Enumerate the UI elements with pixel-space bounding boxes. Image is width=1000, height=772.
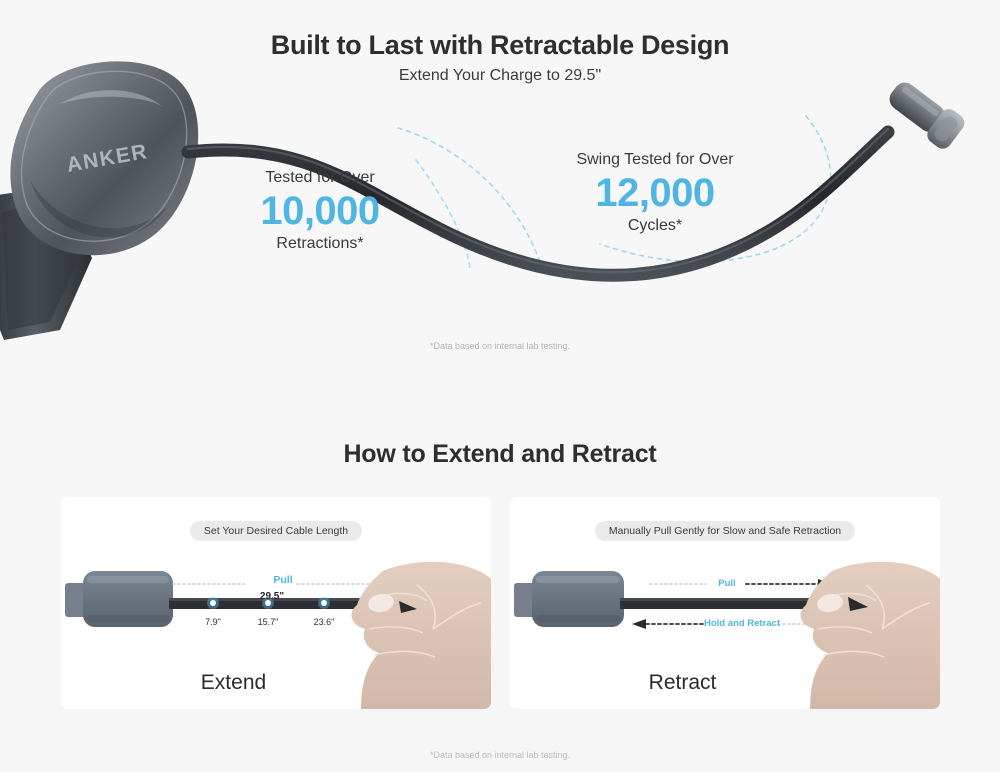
extend-marker-label-1: 7.9" (191, 617, 235, 627)
retract-flow-top-label: Pull (706, 578, 748, 589)
stat-retractions: Tested for Over 10,000 Retractions* (205, 168, 435, 254)
device-body (514, 571, 624, 627)
flow-bottom-arrow (632, 619, 646, 629)
hero-subheadline: Extend Your Charge to 29.5" (0, 67, 1000, 85)
card-extend-caption: Extend (61, 671, 491, 695)
hero-headline: Built to Last with Retractable Design (0, 30, 1000, 61)
retract-flow-bottom-label: Hold and Retract (702, 618, 782, 629)
stat-cycles-top-label: Swing Tested for Over (540, 150, 770, 170)
extend-marker-label-3: 23.6" (302, 617, 346, 627)
hero-section: ANKER Built to Last with Retractable Des… (0, 0, 1000, 390)
stat-retractions-bottom-label: Retractions* (205, 234, 435, 254)
extend-pull-label: Pull (253, 574, 313, 586)
extend-total-length-label: 29.5" (247, 591, 297, 602)
card-retract-caption: Retract (510, 671, 940, 695)
stat-retractions-value: 10,000 (205, 188, 435, 234)
page-root: ANKER Built to Last with Retractable Des… (0, 0, 1000, 772)
device-body (65, 571, 173, 627)
stat-cycles-value: 12,000 (540, 170, 770, 216)
card-extend: Set Your Desired Cable Length (61, 497, 491, 709)
stat-cycles-bottom-label: Cycles* (540, 216, 770, 236)
usbc-connector (882, 74, 968, 152)
cable-segment-highlight (620, 598, 828, 601)
stat-retractions-top-label: Tested for Over (205, 168, 435, 188)
extend-marker-label-2: 15.7" (246, 617, 290, 627)
page-footnote: *Data based on internal lab testing. (0, 750, 1000, 760)
hero-footnote: *Data based on internal lab testing. (0, 341, 1000, 351)
stat-cycles: Swing Tested for Over 12,000 Cycles* (540, 150, 770, 236)
card-retract: Manually Pull Gently for Slow and Safe R… (510, 497, 940, 709)
howto-section-title: How to Extend and Retract (0, 440, 1000, 469)
